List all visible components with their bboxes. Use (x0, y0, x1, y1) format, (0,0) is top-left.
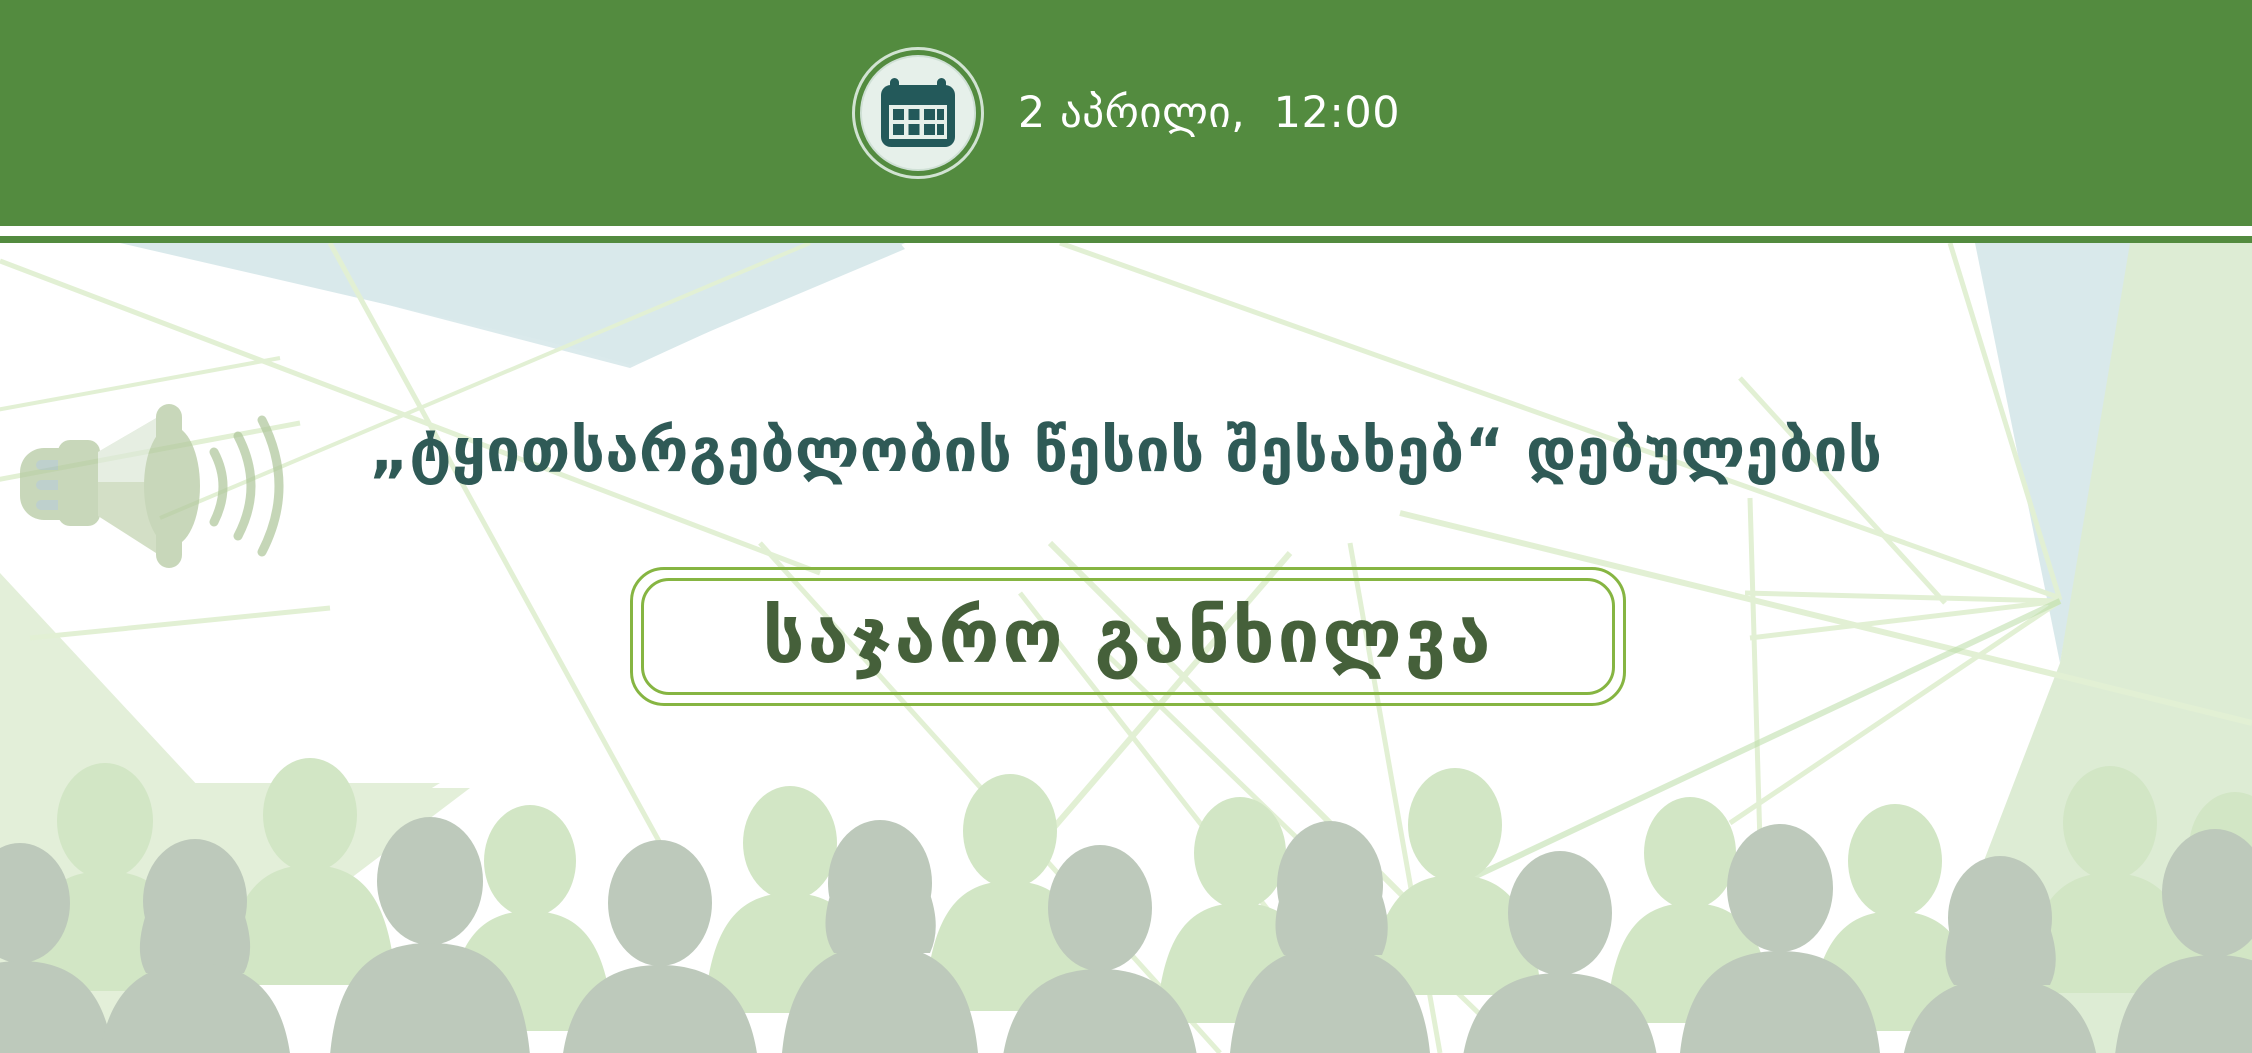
sound-wave-2 (238, 436, 251, 536)
calendar-icon (852, 47, 984, 179)
header-content: 2 აპრილი, 12:00 (0, 0, 2252, 226)
megaphone-collar (58, 440, 100, 526)
audience-crowd (0, 753, 2252, 1053)
sound-wave-3 (262, 420, 279, 552)
decor-line-5 (30, 608, 330, 638)
decor-line-9 (1740, 378, 1945, 603)
megaphone-stem (156, 404, 182, 568)
crowd-person-back (1369, 768, 1541, 995)
sound-wave-1 (214, 452, 223, 522)
poster-canvas: 2 აპრილი, 12:00 „ტყითსარგებლობის წესის შ… (0, 0, 2252, 1053)
megaphone-icon (10, 390, 320, 570)
header-divider-rule (0, 236, 2252, 243)
megaphone-sound-waves (214, 420, 279, 552)
megaphone-body (20, 404, 200, 568)
calendar-glyph (879, 75, 957, 151)
decor-line-7 (1060, 243, 2060, 598)
event-datetime: 2 აპრილი, 12:00 (1018, 92, 1400, 135)
blue-shape-left (150, 243, 900, 368)
decor-line-10 (1745, 593, 2060, 601)
header-band: 2 აპრილი, 12:00 (0, 0, 2252, 226)
